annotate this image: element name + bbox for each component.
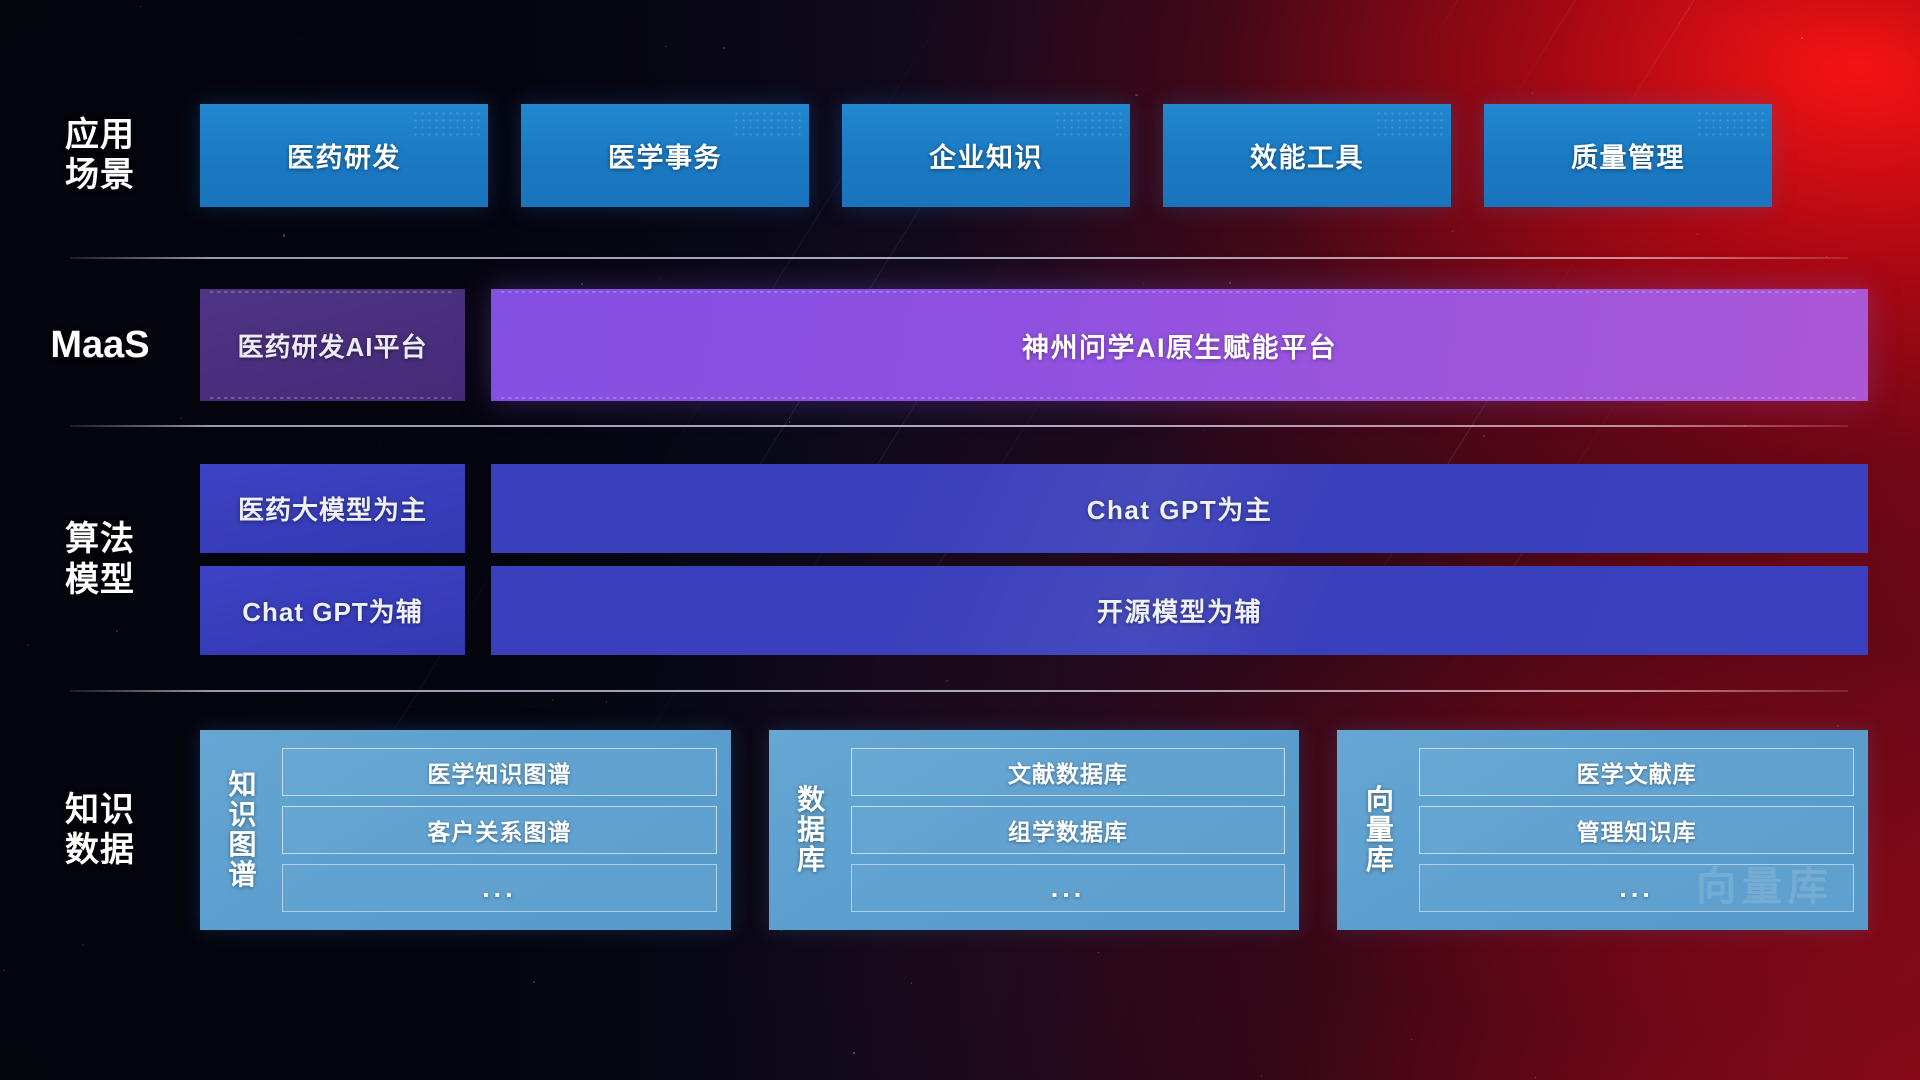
- scenario-box-3[interactable]: 企业知识: [842, 104, 1130, 207]
- algorithm-box-opensource-secondary[interactable]: 开源模型为辅: [491, 566, 1868, 655]
- scenario-box-2[interactable]: 医学事务: [521, 104, 809, 207]
- scenario-label: 质量管理: [1571, 136, 1685, 175]
- algorithm-label: 医药大模型为主: [238, 490, 427, 527]
- knowledge-item[interactable]: 医学知识图谱: [282, 748, 717, 796]
- algorithm-box-list: 医药大模型为主 Chat GPT为主 Chat GPT为辅 开源模型为辅: [200, 464, 1920, 655]
- dot-pattern-decoration: [412, 110, 482, 136]
- knowledge-group-vector-store[interactable]: 向量 库 医学文献库 管理知识库 ... 向量库: [1337, 730, 1868, 930]
- knowledge-item-more[interactable]: ...: [851, 864, 1286, 912]
- dashed-edge-decoration: [210, 397, 455, 399]
- knowledge-item[interactable]: 文献数据库: [851, 748, 1286, 796]
- row-maas: MaaS 医药研发AI平台 神州问学AI原生赋能平台: [0, 285, 1920, 405]
- maas-platform-shenzhou-label: 神州问学AI原生赋能平台: [1022, 326, 1337, 365]
- algorithm-box-chatgpt-primary[interactable]: Chat GPT为主: [491, 464, 1868, 553]
- knowledge-item-more[interactable]: ...: [282, 864, 717, 912]
- row-knowledge-data: 知识 数据 知识 图谱 医学知识图谱 客户关系图谱 ... 数据 库 文献数据库…: [0, 725, 1920, 935]
- row-label-knowledge-data: 知识 数据: [0, 790, 200, 870]
- scenario-box-5[interactable]: 质量管理: [1484, 104, 1772, 207]
- knowledge-group-knowledge-graph[interactable]: 知识 图谱 医学知识图谱 客户关系图谱 ...: [200, 730, 731, 930]
- row-label-algorithm-models: 算法 模型: [0, 519, 200, 599]
- knowledge-item[interactable]: 医学文献库: [1419, 748, 1854, 796]
- row-label-maas: MaaS: [0, 323, 200, 368]
- row-algorithm-models: 算法 模型 医药大模型为主 Chat GPT为主 Chat GPT为辅: [0, 462, 1920, 657]
- knowledge-item-list: 医学文献库 管理知识库 ...: [1419, 748, 1854, 912]
- scenario-box-4[interactable]: 效能工具: [1163, 104, 1451, 207]
- maas-platform-pharma-label: 医药研发AI平台: [237, 327, 427, 364]
- dot-pattern-decoration: [733, 110, 803, 136]
- dot-pattern-decoration: [1375, 110, 1445, 136]
- algorithm-label: 开源模型为辅: [1097, 592, 1262, 629]
- knowledge-item[interactable]: 管理知识库: [1419, 806, 1854, 854]
- knowledge-item-list: 医学知识图谱 客户关系图谱 ...: [282, 748, 717, 912]
- dot-pattern-decoration: [1054, 110, 1124, 136]
- knowledge-group-list: 知识 图谱 医学知识图谱 客户关系图谱 ... 数据 库 文献数据库 组学数据库…: [200, 730, 1920, 930]
- algorithm-box-pharma-primary[interactable]: 医药大模型为主: [200, 464, 465, 553]
- scenario-label: 医学事务: [608, 136, 722, 175]
- knowledge-group-title: 向量 库: [1355, 785, 1405, 876]
- algorithm-row-secondary: Chat GPT为辅 开源模型为辅: [200, 566, 1868, 655]
- divider-line-3: [70, 690, 1848, 692]
- algorithm-label: Chat GPT为主: [1087, 490, 1272, 527]
- dashed-edge-decoration: [501, 397, 1858, 399]
- knowledge-group-title: 数据 库: [787, 785, 837, 876]
- maas-platform-shenzhou[interactable]: 神州问学AI原生赋能平台: [491, 289, 1868, 401]
- algorithm-row-primary: 医药大模型为主 Chat GPT为主: [200, 464, 1868, 553]
- dot-pattern-decoration: [1696, 110, 1766, 136]
- maas-platform-pharma[interactable]: 医药研发AI平台: [200, 289, 465, 401]
- dashed-edge-decoration: [501, 291, 1858, 293]
- scenario-label: 企业知识: [929, 136, 1043, 175]
- divider-line-1: [70, 257, 1848, 259]
- knowledge-group-database[interactable]: 数据 库 文献数据库 组学数据库 ...: [769, 730, 1300, 930]
- knowledge-item-list: 文献数据库 组学数据库 ...: [851, 748, 1286, 912]
- row-label-application-scenarios: 应用 场景: [0, 115, 200, 195]
- scenario-box-list: 医药研发 医学事务 企业知识 效能工具 质量管理: [200, 104, 1824, 207]
- architecture-diagram: 应用 场景 医药研发 医学事务 企业知识 效能工具: [0, 0, 1920, 1080]
- scenario-label: 医药研发: [287, 136, 401, 175]
- knowledge-item-more[interactable]: ...: [1419, 864, 1854, 912]
- scenario-box-1[interactable]: 医药研发: [200, 104, 488, 207]
- algorithm-box-chatgpt-secondary[interactable]: Chat GPT为辅: [200, 566, 465, 655]
- row-application-scenarios: 应用 场景 医药研发 医学事务 企业知识 效能工具: [0, 100, 1920, 210]
- scenario-label: 效能工具: [1250, 136, 1364, 175]
- knowledge-group-title: 知识 图谱: [218, 770, 268, 891]
- algorithm-label: Chat GPT为辅: [242, 592, 422, 629]
- dashed-edge-decoration: [210, 291, 455, 293]
- knowledge-item[interactable]: 客户关系图谱: [282, 806, 717, 854]
- divider-line-2: [70, 425, 1848, 427]
- maas-box-list: 医药研发AI平台 神州问学AI原生赋能平台: [200, 289, 1920, 401]
- knowledge-item[interactable]: 组学数据库: [851, 806, 1286, 854]
